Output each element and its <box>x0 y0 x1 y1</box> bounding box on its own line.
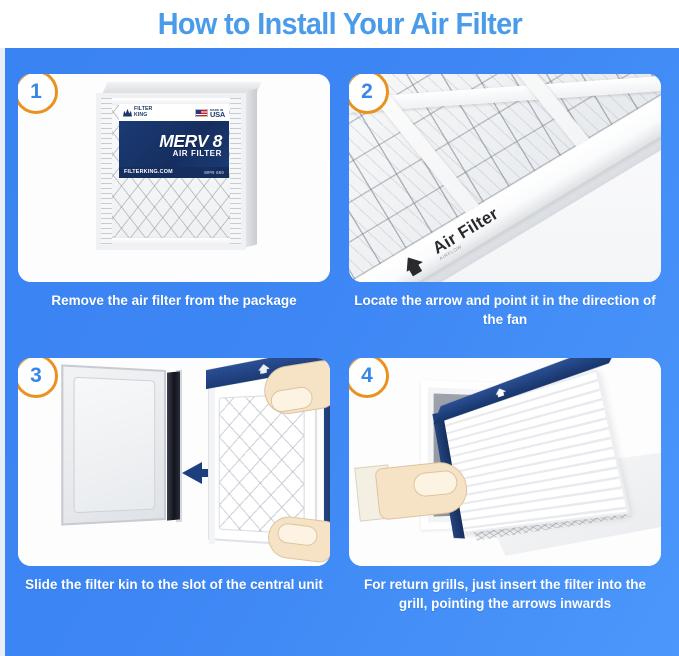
step-3-caption: Slide the filter kin to the slot of the … <box>18 575 330 594</box>
page-header: How to Install Your Air Filter <box>0 0 679 48</box>
made-in-usa-mark: MADE IN USA <box>195 108 225 117</box>
filter-frame-bottom <box>101 238 241 245</box>
filter-corner-photo: Air Filter AIRFLOW <box>349 74 661 282</box>
boxed-air-filter-photo: FILTER KING MADE IN USA <box>18 74 330 282</box>
step-3: 3 Slide the filter kin to the slot of th… <box>18 358 330 594</box>
product-label: FILTER KING MADE IN USA <box>119 104 229 178</box>
slide-filter-illustration <box>18 358 330 566</box>
unit-front-panel <box>61 364 166 525</box>
infographic-page: How to Install Your Air Filter <box>0 0 679 656</box>
merv-rating: MERV 8 <box>159 132 222 150</box>
brand-line-2: KING <box>134 112 147 118</box>
step-4-card: 4 <box>349 358 661 566</box>
airflow-arrow-icon <box>401 252 427 278</box>
filter-pleat-mesh <box>219 394 305 535</box>
brand-name: FILTER KING <box>134 107 152 118</box>
filter-front-face: FILTER KING MADE IN USA <box>96 93 246 250</box>
angled-filter: Air Filter AIRFLOW <box>349 74 661 282</box>
step-1-card: FILTER KING MADE IN USA <box>18 74 330 282</box>
filter-king-logo: FILTER KING <box>123 107 152 118</box>
step-2-caption: Locate the arrow and point it in the dir… <box>349 291 661 329</box>
label-footer: FILTERKING.COM MPR 650 <box>119 167 229 178</box>
country-label: USA <box>210 113 225 117</box>
airflow-arrow-icon <box>494 386 507 398</box>
step-4: 4 For return grills, just insert the fil… <box>349 358 661 613</box>
step-1: FILTER KING MADE IN USA <box>18 74 330 310</box>
unit-inner-recess <box>73 377 155 514</box>
step-3-card: 3 <box>18 358 330 566</box>
usa-flag-icon <box>195 109 208 117</box>
air-filter-box: FILTER KING MADE IN USA <box>96 82 256 250</box>
website-text: FILTERKING.COM <box>124 169 173 175</box>
step-2: Air Filter AIRFLOW 2 Locate the arrow an… <box>349 74 661 329</box>
made-in-usa-text: MADE IN USA <box>210 108 225 117</box>
crown-icon <box>123 109 132 117</box>
arrow-head <box>182 462 202 484</box>
step-2-card: Air Filter AIRFLOW 2 <box>349 74 661 282</box>
return-grill-illustration <box>349 358 661 566</box>
central-unit <box>66 370 178 520</box>
mpr-rating: MPR 650 <box>204 170 224 175</box>
product-type: AIR FILTER <box>173 149 222 158</box>
filter-pleat-left <box>101 98 112 245</box>
filter-pleat-right <box>230 98 241 245</box>
step-4-caption: For return grills, just insert the filte… <box>349 575 661 613</box>
page-title: How to Install Your Air Filter <box>157 6 521 42</box>
step-1-caption: Remove the air filter from the package <box>18 291 330 310</box>
unit-filter-slot <box>167 371 180 520</box>
filter-right-bevel <box>245 89 257 248</box>
airflow-arrow-icon <box>258 363 270 375</box>
label-main-panel: MERV 8 AIR FILTER <box>119 121 229 167</box>
hand-lower <box>266 514 330 564</box>
filter-left-edge <box>209 376 215 545</box>
steps-grid: FILTER KING MADE IN USA <box>0 48 679 656</box>
label-header: FILTER KING MADE IN USA <box>119 104 229 121</box>
